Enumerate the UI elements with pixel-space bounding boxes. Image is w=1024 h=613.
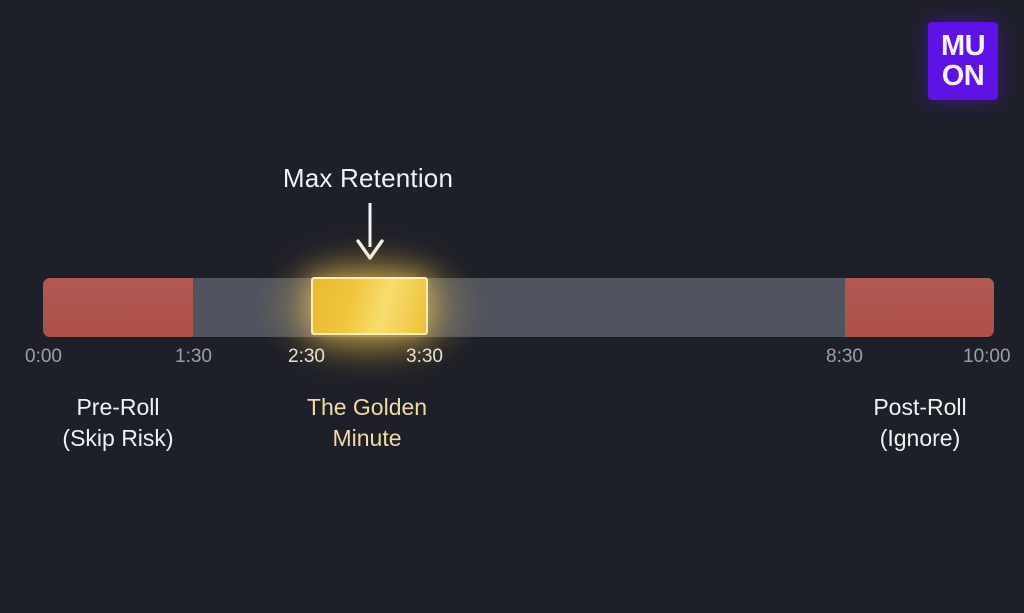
caption-golden-minute-line-2: Minute (267, 423, 467, 454)
logo-line-2: ON (942, 61, 985, 91)
caption-golden-minute: The Golden Minute (267, 392, 467, 454)
caption-post-roll-line-2: (Ignore) (820, 423, 1020, 454)
down-arrow-icon (352, 203, 388, 261)
tick-label-8-30: 8:30 (826, 346, 863, 368)
caption-pre-roll-line-1: Pre-Roll (18, 392, 218, 423)
caption-post-roll: Post-Roll (Ignore) (820, 392, 1020, 454)
tick-label-10-00: 10:00 (963, 346, 1011, 368)
segment-golden-minute[interactable] (311, 277, 428, 335)
caption-post-roll-line-1: Post-Roll (820, 392, 1020, 423)
segment-pre-roll[interactable] (43, 278, 193, 337)
tick-label-2-30: 2:30 (288, 346, 325, 368)
timeline-infographic: MU ON Max Retention 0:00 1:30 2:30 3:30 … (0, 0, 1024, 613)
tick-label-0-00: 0:00 (25, 346, 62, 368)
segment-post-roll[interactable] (845, 278, 994, 337)
logo-line-1: MU (941, 31, 985, 61)
tick-label-3-30: 3:30 (406, 346, 443, 368)
caption-pre-roll-line-2: (Skip Risk) (18, 423, 218, 454)
timeline-track[interactable] (43, 278, 994, 337)
caption-golden-minute-line-1: The Golden (267, 392, 467, 423)
max-retention-label: Max Retention (0, 163, 736, 194)
caption-pre-roll: Pre-Roll (Skip Risk) (18, 392, 218, 454)
tick-label-1-30: 1:30 (175, 346, 212, 368)
muon-logo: MU ON (928, 22, 998, 100)
